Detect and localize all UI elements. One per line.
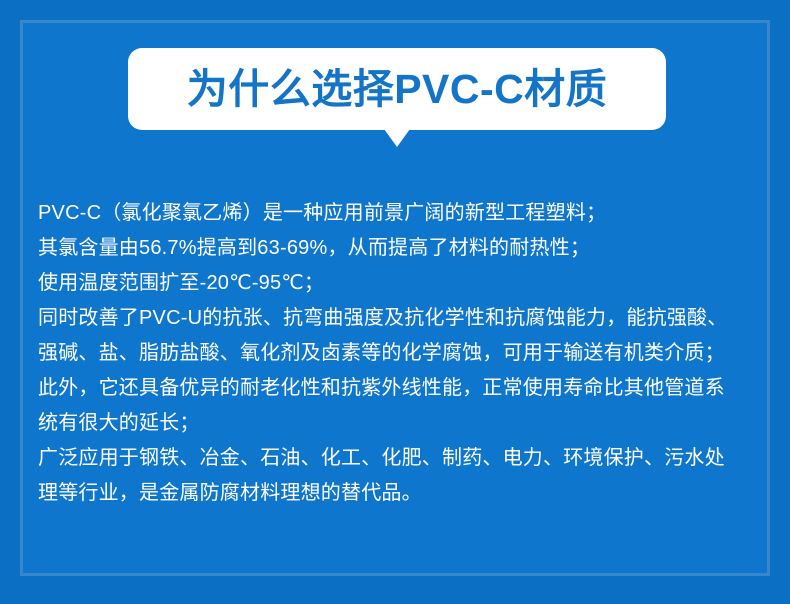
body-line: 统有很大的延长；: [38, 406, 764, 441]
title-card-pointer-icon: [384, 129, 410, 147]
body-line: 强碱、盐、脂肪盐酸、氧化剂及卤素等的化学腐蚀，可用于输送有机类介质；: [38, 336, 764, 371]
body-line: 使用温度范围扩至-20℃-95℃；: [38, 266, 764, 301]
poster-root: 为什么选择PVC-C材质 PVC-C（氯化聚氯乙烯）是一种应用前景广阔的新型工程…: [0, 0, 790, 604]
page-title: 为什么选择PVC-C材质: [187, 69, 608, 110]
title-card-container: 为什么选择PVC-C材质: [128, 48, 666, 130]
body-paragraph: PVC-C（氯化聚氯乙烯）是一种应用前景广阔的新型工程塑料； 其氯含量由56.7…: [38, 196, 764, 511]
body-line: 其氯含量由56.7%提高到63-69%，从而提高了材料的耐热性；: [38, 231, 764, 266]
title-card: 为什么选择PVC-C材质: [128, 48, 666, 130]
body-line: 理等行业，是金属防腐材料理想的替代品。: [38, 476, 764, 511]
body-line: 此外，它还具备优异的耐老化性和抗紫外线性能，正常使用寿命比其他管道系: [38, 371, 764, 406]
body-line: 广泛应用于钢铁、冶金、石油、化工、化肥、制药、电力、环境保护、污水处: [38, 441, 764, 476]
body-line: 同时改善了PVC-U的抗张、抗弯曲强度及抗化学性和抗腐蚀能力，能抗强酸、: [38, 301, 764, 336]
body-line: PVC-C（氯化聚氯乙烯）是一种应用前景广阔的新型工程塑料；: [38, 196, 764, 231]
